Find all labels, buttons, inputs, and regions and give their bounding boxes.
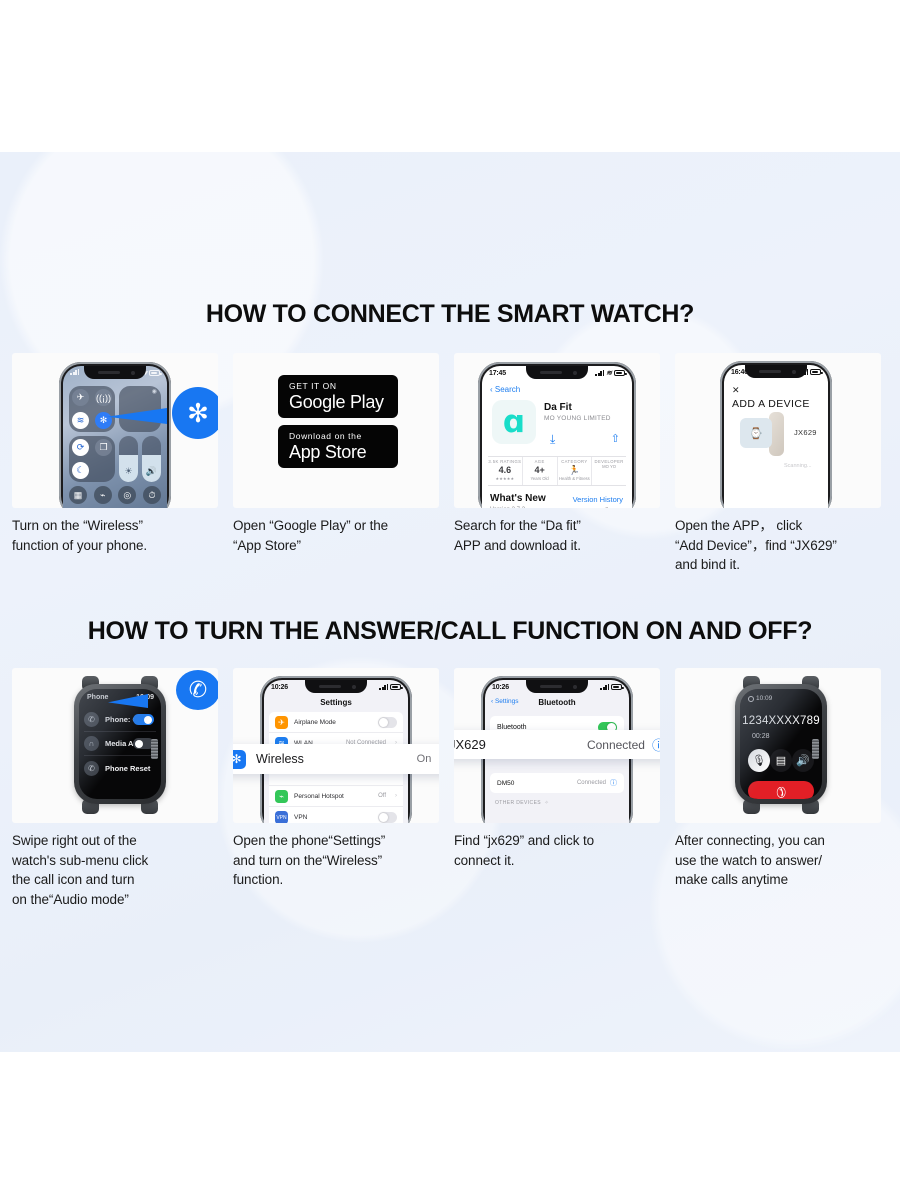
bluetooth-title: Bluetooth [485,698,629,707]
keypad-icon[interactable]: ▤ [770,749,792,772]
watch-mockup: Phone 10:09 ✆ Phone: On [60,674,180,816]
phone-mockup: 16:40 ✕ ADD A DEVICE ⌚ JX629 Scanning... [720,361,832,508]
app-store-badge[interactable]: Download on the App Store [278,425,398,468]
step-caption: Open the APP， click “Add Device”，find “J… [675,516,881,575]
background-band [0,152,900,1052]
step-card-add-device: 16:40 ✕ ADD A DEVICE ⌚ JX629 Scanning...… [675,353,881,575]
whats-new-heading: What's New [490,493,546,504]
volume-slider[interactable]: 🔊 [142,436,161,482]
watch-row-label: Phone Reset [105,764,150,773]
hotspot-icon: ⌁ [275,790,288,803]
settings-row-label: Personal Hotspot [294,793,344,800]
phone-reset-icon: ✆ [84,761,99,776]
sliders-group: ☀ 🔊 [119,436,161,482]
app-stats-row: 3.5K RATINGS 4.6 ★★★★★ AGE 4+ Years Old [488,456,626,486]
phone-call-callout-icon: ✆ [176,670,218,710]
end-call-button[interactable]: ✆ [748,781,814,799]
info-icon[interactable]: ⓘ [652,735,660,754]
stat-age: AGE 4+ Years Old [523,457,558,485]
step-caption: Open “Google Play” or the “App Store” [233,516,439,555]
share-icon[interactable]: ⇧ [611,432,620,445]
settings-row-vpn[interactable]: VPN VPN [269,807,403,823]
step-card-watch-menu: Phone 10:09 ✆ Phone: On [12,668,218,909]
control-center: ✈ ((¡)) ≋ ✻ ⟳ [69,386,161,504]
step-caption: Search for the “Da fit” APP and download… [454,516,660,555]
connectivity-group[interactable]: ✈ ((¡)) ≋ ✻ [69,386,115,432]
clock-icon [748,696,754,702]
calculator-icon[interactable]: ▦ [69,486,87,504]
step-caption: Find “jx629” and click to connect it. [454,831,660,870]
settings-title: Settings [264,698,408,707]
volume-icon: 🔊 [146,466,157,477]
step-card-in-call: 10:09 1234XXXX789 00:28 🎙 ▤ 🔊 ✆ [675,668,881,909]
add-device-title: ADD A DEVICE [732,398,810,410]
notch [526,366,588,379]
watch-screen: Phone 10:09 ✆ Phone: On [79,689,161,799]
end-call-icon: ✆ [771,782,790,799]
back-button[interactable]: ‹ Search [490,385,520,394]
headphones-icon: ∩ [84,736,99,751]
step-card-bluetooth: 10:26 ‹ Settings Bluetooth Bluetooth Now… [454,668,660,909]
vpn-toggle[interactable] [378,812,397,823]
control-center-bottom: ▦ ⌁ ◎ ⏱ [69,486,161,504]
section-title-answer-call: HOW TO TURN THE ANSWER/CALL FUNCTION ON … [0,617,900,646]
scanning-status: Scanning... [784,463,812,469]
watch-time: 10:09 [756,695,772,702]
speaker-icon[interactable]: 🔊 [792,749,814,772]
update-age: 2w ago [605,507,623,508]
step-card-store: GET IT ON Google Play Download on the Ap… [233,353,439,575]
status-right: ≋ [595,370,625,377]
step-caption: Turn on the “Wireless” function of your … [12,516,218,555]
step-caption: After connecting, you can use the watch … [675,831,881,890]
badge-small-text: Download on the [289,431,398,442]
media-widget[interactable] [119,386,161,432]
status-right [600,684,622,690]
settings-row-airplane[interactable]: ✈ Airplane Mode [269,712,403,733]
stat-ratings: 3.5K RATINGS 4.6 ★★★★★ [488,457,523,485]
wireless-value: On [417,753,432,765]
settings-row-label: VPN [294,814,307,821]
image-panel-iphone-settings: 10:26 Settings ✈ Airplane Mode [233,668,439,823]
device-name: DM50 [497,780,514,787]
step-card-settings: 10:26 Settings ✈ Airplane Mode [233,668,439,909]
wireless-label: Wireless [256,752,304,766]
chevron-right-icon: › [395,793,397,799]
call-duration: 00:28 [752,733,770,740]
image-panel-add-device: 16:40 ✕ ADD A DEVICE ⌚ JX629 Scanning... [675,353,881,508]
step-card-wireless: ▾ ✈ ((¡)) ≋ ✻ [12,353,218,575]
spacer [95,462,112,479]
timer-icon[interactable]: ⏱ [143,486,161,504]
bluetooth-callout-icon: ✻ [172,387,218,439]
spinner-icon: ✧ [544,800,549,806]
image-panel-app-store: 17:45 ≋ ‹ Search ɑ Da Fit MO YOUNG LIMIT… [454,353,660,508]
step-card-search-app: 17:45 ≋ ‹ Search ɑ Da Fit MO YOUNG LIMIT… [454,353,660,575]
step-caption: Swipe right out of the watch's sub-menu … [12,831,218,909]
watch-row-media-audio[interactable]: ∩ Media Audio [84,732,156,756]
airplane-icon[interactable]: ✈ [72,389,89,406]
phone-screen: ▾ ✈ ((¡)) ≋ ✻ [63,366,167,508]
badge-big-text: App Store [289,442,398,463]
watch-menu-list: ✆ Phone: On ∩ Media Audio [84,708,156,780]
settings-row-hotspot[interactable]: ⌁ Personal Hotspot Off › [269,786,403,807]
phone-mockup: ▾ ✈ ((¡)) ≋ ✻ [59,362,171,508]
other-devices-header: OTHER DEVICES✧ [495,800,549,806]
brightness-slider[interactable]: ☀ [119,436,138,482]
download-icon[interactable]: ⤓ [550,432,555,447]
status-time: 10:26 [271,684,288,691]
watch-crown[interactable] [812,739,819,759]
status-right: ▾ [143,370,160,377]
watch-mockup: 10:09 1234XXXX789 00:28 🎙 ▤ 🔊 ✆ [721,674,841,816]
image-panel-store-badges: GET IT ON Google Play Download on the Ap… [233,353,439,508]
watch-crown[interactable] [151,739,158,759]
device-status: Connected [577,780,606,786]
bluetooth-icon[interactable]: ✻ [95,412,112,429]
stat-category: CATEGORY 🏃 Health & Fitness [558,457,593,485]
mute-icon[interactable]: 🎙 [748,749,770,772]
info-icon[interactable]: ⓘ [610,778,617,788]
jx629-device-name: JX629 [454,737,486,752]
notch [745,365,807,378]
status-time: 17:45 [489,370,506,377]
vpn-icon: VPN [275,811,288,823]
focus-icon[interactable]: ☾ [72,462,89,479]
badge-big-text: Google Play [289,392,398,413]
bluetooth-device-row[interactable]: DM50 Connected ⓘ [490,773,624,793]
app-icon: ɑ [492,400,536,444]
watch-device-icon: ⌚ [740,418,772,448]
highlighted-wireless-row[interactable]: ✻ Wireless On › [233,744,439,774]
steps-row-connect: ▾ ✈ ((¡)) ≋ ✻ [12,353,888,575]
image-panel-control-center: ▾ ✈ ((¡)) ≋ ✻ [12,353,218,508]
phone-toggle[interactable] [133,714,154,725]
wifi-icon[interactable]: ≋ [72,412,89,429]
badge-small-text: GET IT ON [289,381,398,392]
google-play-badge[interactable]: GET IT ON Google Play [278,375,398,418]
watch-row-phone[interactable]: ✆ Phone: On [84,708,156,732]
watch-row-phone-reset[interactable]: ✆ Phone Reset [84,756,156,780]
close-icon[interactable]: ✕ [732,385,740,396]
flashlight-icon[interactable]: ⌁ [94,486,112,504]
control-center-top: ✈ ((¡)) ≋ ✻ [69,386,161,432]
airplane-toggle[interactable] [378,717,397,728]
da-fit-logo-icon: ɑ [503,407,525,438]
phone-screen: 17:45 ≋ ‹ Search ɑ Da Fit MO YOUNG LIMIT… [482,366,632,508]
jx629-status: Connected [587,738,645,752]
section-title-connect: HOW TO CONNECT THE SMART WATCH? [0,300,900,329]
back-label: Search [495,385,520,394]
airplane-icon: ✈ [275,716,288,729]
signal-bars [70,369,79,377]
phone-screen: 16:40 ✕ ADD A DEVICE ⌚ JX629 Scanning... [724,365,828,508]
phone-mockup: 17:45 ≋ ‹ Search ɑ Da Fit MO YOUNG LIMIT… [478,362,636,508]
caller-number: 1234XXXX789 [740,715,822,727]
image-panel-watch-in-call: 10:09 1234XXXX789 00:28 🎙 ▤ 🔊 ✆ [675,668,881,823]
status-right [379,684,401,690]
notch [84,366,146,379]
image-panel-watch-phone-menu: Phone 10:09 ✆ Phone: On [12,668,218,823]
camera-icon[interactable]: ◎ [118,486,136,504]
watch-screen-title: Phone [87,694,108,701]
watch-screen: 10:09 1234XXXX789 00:28 🎙 ▤ 🔊 ✆ [740,689,822,799]
settings-row-label: Airplane Mode [294,719,336,726]
device-name-label[interactable]: JX629 [794,428,817,437]
step-caption: Open the phone“Settings” and turn on the… [233,831,439,890]
app-version: Version 2.7.2 [490,507,525,508]
phone-icon: ✆ [84,712,99,727]
bluetooth-icon: ✻ [233,750,246,769]
cellular-icon[interactable]: ((¡)) [95,389,112,406]
version-history-link[interactable]: Version History [573,495,623,504]
page-root: HOW TO CONNECT THE SMART WATCH? ▾ [0,0,900,1200]
app-name: Da Fit [544,402,572,413]
watch-body: 10:09 1234XXXX789 00:28 🎙 ▤ 🔊 ✆ [735,684,827,804]
highlighted-jx629-row[interactable]: JX629 Connected ⓘ [454,730,660,759]
screen-mirror-icon[interactable]: ❐ [95,439,112,456]
orientation-lock-icon[interactable]: ⟳ [72,439,89,456]
settings-row-value: Off [378,793,386,799]
status-time: 10:26 [492,684,509,691]
image-panel-iphone-bluetooth: 10:26 ‹ Settings Bluetooth Bluetooth Now… [454,668,660,823]
app-developer: MO YOUNG LIMITED [544,415,611,422]
notch [305,680,367,693]
call-controls: 🎙 ▤ 🔊 [748,749,814,772]
toggles-group[interactable]: ⟳ ❐ ☾ [69,436,115,482]
control-center-middle: ⟳ ❐ ☾ ☀ 🔊 [69,436,161,482]
steps-row-answer-call: Phone 10:09 ✆ Phone: On [12,668,888,909]
brightness-icon: ☀ [124,466,132,477]
watch-status: 10:09 [748,695,772,702]
notch [526,680,588,693]
stat-developer: DEVELOPER MO YO [592,457,626,485]
